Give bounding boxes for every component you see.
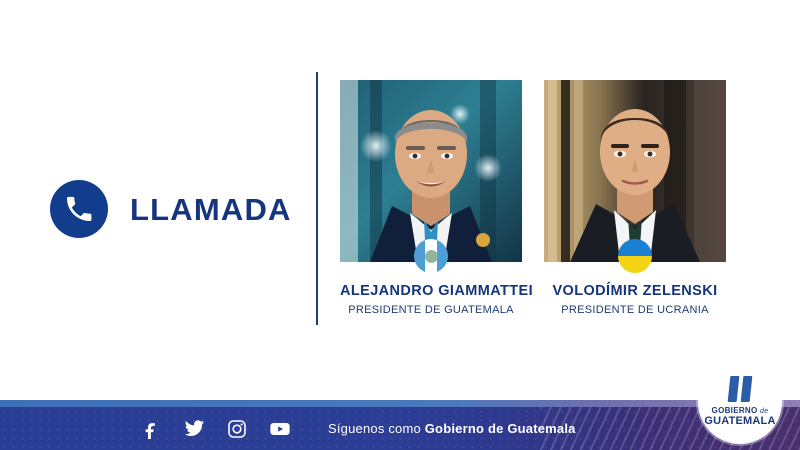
- follow-text: Síguenos como Gobierno de Guatemala: [328, 421, 576, 436]
- logo-bar-right: [741, 376, 753, 402]
- portrait-wrapper: [544, 80, 726, 262]
- instagram-icon[interactable]: [226, 418, 248, 440]
- logo-word-de: de: [760, 408, 768, 415]
- footer-accent-strip: [0, 400, 800, 407]
- portrait-wrapper: [340, 80, 522, 262]
- footer-bar: Síguenos como Gobierno de Guatemala GOBI…: [0, 400, 800, 450]
- follow-prefix: Síguenos como: [328, 421, 425, 436]
- call-banner-label: LLAMADA: [130, 194, 292, 225]
- person-name: ALEJANDRO GIAMMATTEI: [340, 284, 522, 300]
- logo-line-2: GUATEMALA: [704, 415, 775, 428]
- phone-icon: [50, 180, 108, 238]
- logo-word-gobierno: GOBIERNO: [712, 406, 758, 415]
- guatemala-flag-icon: [414, 239, 448, 273]
- person-card-zelenski: VOLODÍMIR ZELENSKI PRESIDENTE DE UCRANIA: [544, 80, 726, 316]
- twitter-icon[interactable]: [183, 418, 205, 440]
- guatemala-emblem: [425, 250, 438, 263]
- facebook-icon[interactable]: [140, 418, 162, 440]
- logo-line-1: GOBIERNO de: [712, 407, 769, 415]
- giammattei-portrait: [340, 80, 522, 262]
- person-role: PRESIDENTE DE GUATEMALA: [340, 304, 522, 316]
- logo-bars-icon: [728, 376, 753, 402]
- section-divider: [316, 72, 318, 325]
- follow-brand: Gobierno de Guatemala: [425, 421, 576, 436]
- portrait-group: ALEJANDRO GIAMMATTEI PRESIDENTE DE GUATE…: [340, 80, 726, 316]
- youtube-icon[interactable]: [269, 418, 291, 440]
- call-banner: LLAMADA: [50, 180, 292, 238]
- social-links: Síguenos como Gobierno de Guatemala: [140, 407, 576, 450]
- zelenski-portrait: [544, 80, 726, 262]
- person-name: VOLODÍMIR ZELENSKI: [544, 284, 726, 300]
- person-role: PRESIDENTE DE UCRANIA: [544, 304, 726, 316]
- logo-bar-left: [728, 376, 740, 402]
- person-card-giammattei: ALEJANDRO GIAMMATTEI PRESIDENTE DE GUATE…: [340, 80, 522, 316]
- ukraine-flag-icon: [618, 239, 652, 273]
- gobierno-de-guatemala-logo: GOBIERNO de GUATEMALA: [698, 360, 782, 444]
